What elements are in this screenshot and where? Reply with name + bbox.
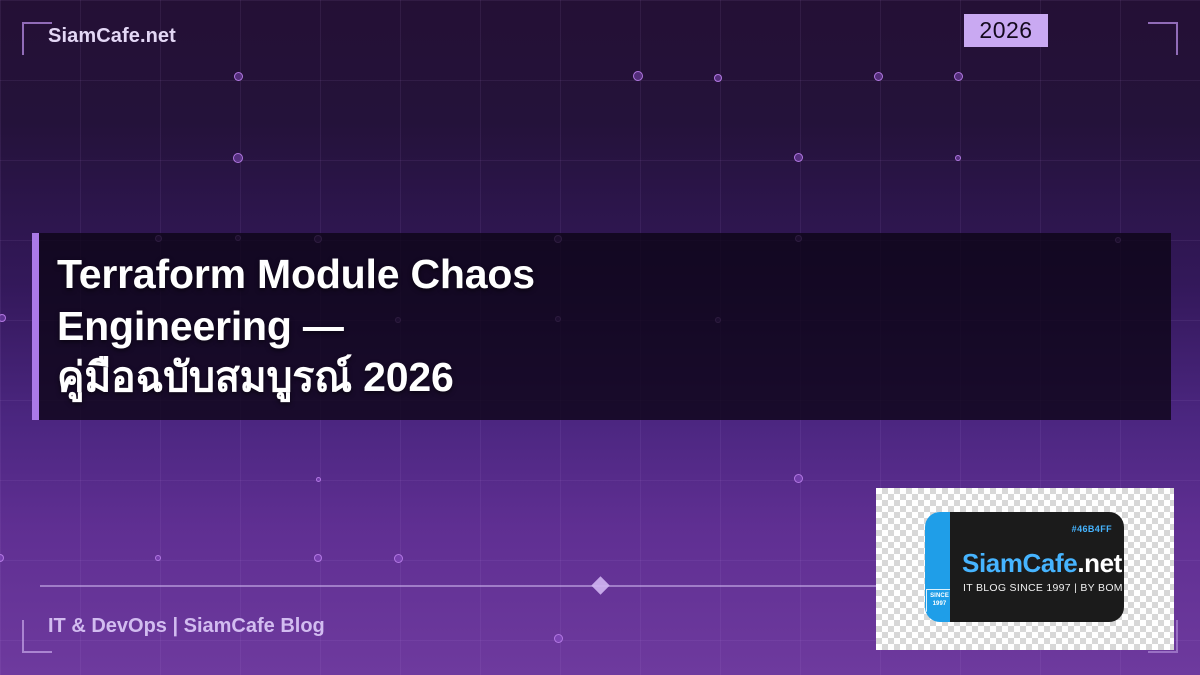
logo-card: SINCE 1997 #46B4FF SiamCafe.net IT BLOG … xyxy=(876,488,1174,650)
slide-canvas: SiamCafe.net 2026 Terraform Module Chaos… xyxy=(0,0,1200,675)
title-band: Terraform Module Chaos Engineering — คู่… xyxy=(32,233,1171,420)
divider-diamond-icon xyxy=(591,576,609,594)
logo-tagline: IT BLOG SINCE 1997 | BY BOM xyxy=(963,582,1123,594)
decorative-dot xyxy=(633,71,643,81)
decorative-dot xyxy=(234,72,243,81)
logo-wordmark: SiamCafe.net xyxy=(962,548,1122,579)
decorative-dot xyxy=(314,554,322,562)
decorative-dot xyxy=(316,477,321,482)
logo-blue-stripe: SINCE 1997 xyxy=(925,512,950,622)
decorative-dot xyxy=(955,155,961,161)
decorative-dot xyxy=(954,72,963,81)
decorative-dot xyxy=(0,314,6,322)
brand-name: SiamCafe.net xyxy=(48,25,176,48)
decorative-dot xyxy=(874,72,883,81)
decorative-dot xyxy=(155,555,161,561)
logo-body: #46B4FF SiamCafe.net IT BLOG SINCE 1997 … xyxy=(950,512,1124,622)
decorative-dot xyxy=(394,554,403,563)
logo-wordmark-primary: SiamCafe xyxy=(962,548,1077,578)
decorative-dot xyxy=(0,554,4,562)
decorative-dot xyxy=(714,74,722,82)
ribbon-line-2: 1997 xyxy=(933,601,947,609)
logo-wordmark-suffix: .net xyxy=(1077,548,1122,578)
since-1997-ribbon-icon: SINCE 1997 xyxy=(926,589,953,620)
decorative-dot xyxy=(794,474,803,483)
decorative-dot xyxy=(794,153,803,162)
ribbon-line-1: SINCE xyxy=(930,593,949,601)
year-badge: 2026 xyxy=(964,14,1048,47)
decorative-dot xyxy=(233,153,243,163)
title-accent-bar xyxy=(32,233,39,420)
footer-label: IT & DevOps | SiamCafe Blog xyxy=(48,615,325,638)
corner-bracket-top-right-icon xyxy=(1148,22,1178,55)
title-line-1: Terraform Module Chaos xyxy=(57,249,535,301)
title-line-2: Engineering — xyxy=(57,301,535,353)
page-title: Terraform Module Chaos Engineering — คู่… xyxy=(57,249,535,404)
logo-hex-label: #46B4FF xyxy=(1072,524,1112,534)
title-line-3: คู่มือฉบับสมบูรณ์ 2026 xyxy=(57,352,535,404)
logo-graphic: SINCE 1997 #46B4FF SiamCafe.net IT BLOG … xyxy=(925,512,1124,622)
decorative-dot xyxy=(554,634,563,643)
